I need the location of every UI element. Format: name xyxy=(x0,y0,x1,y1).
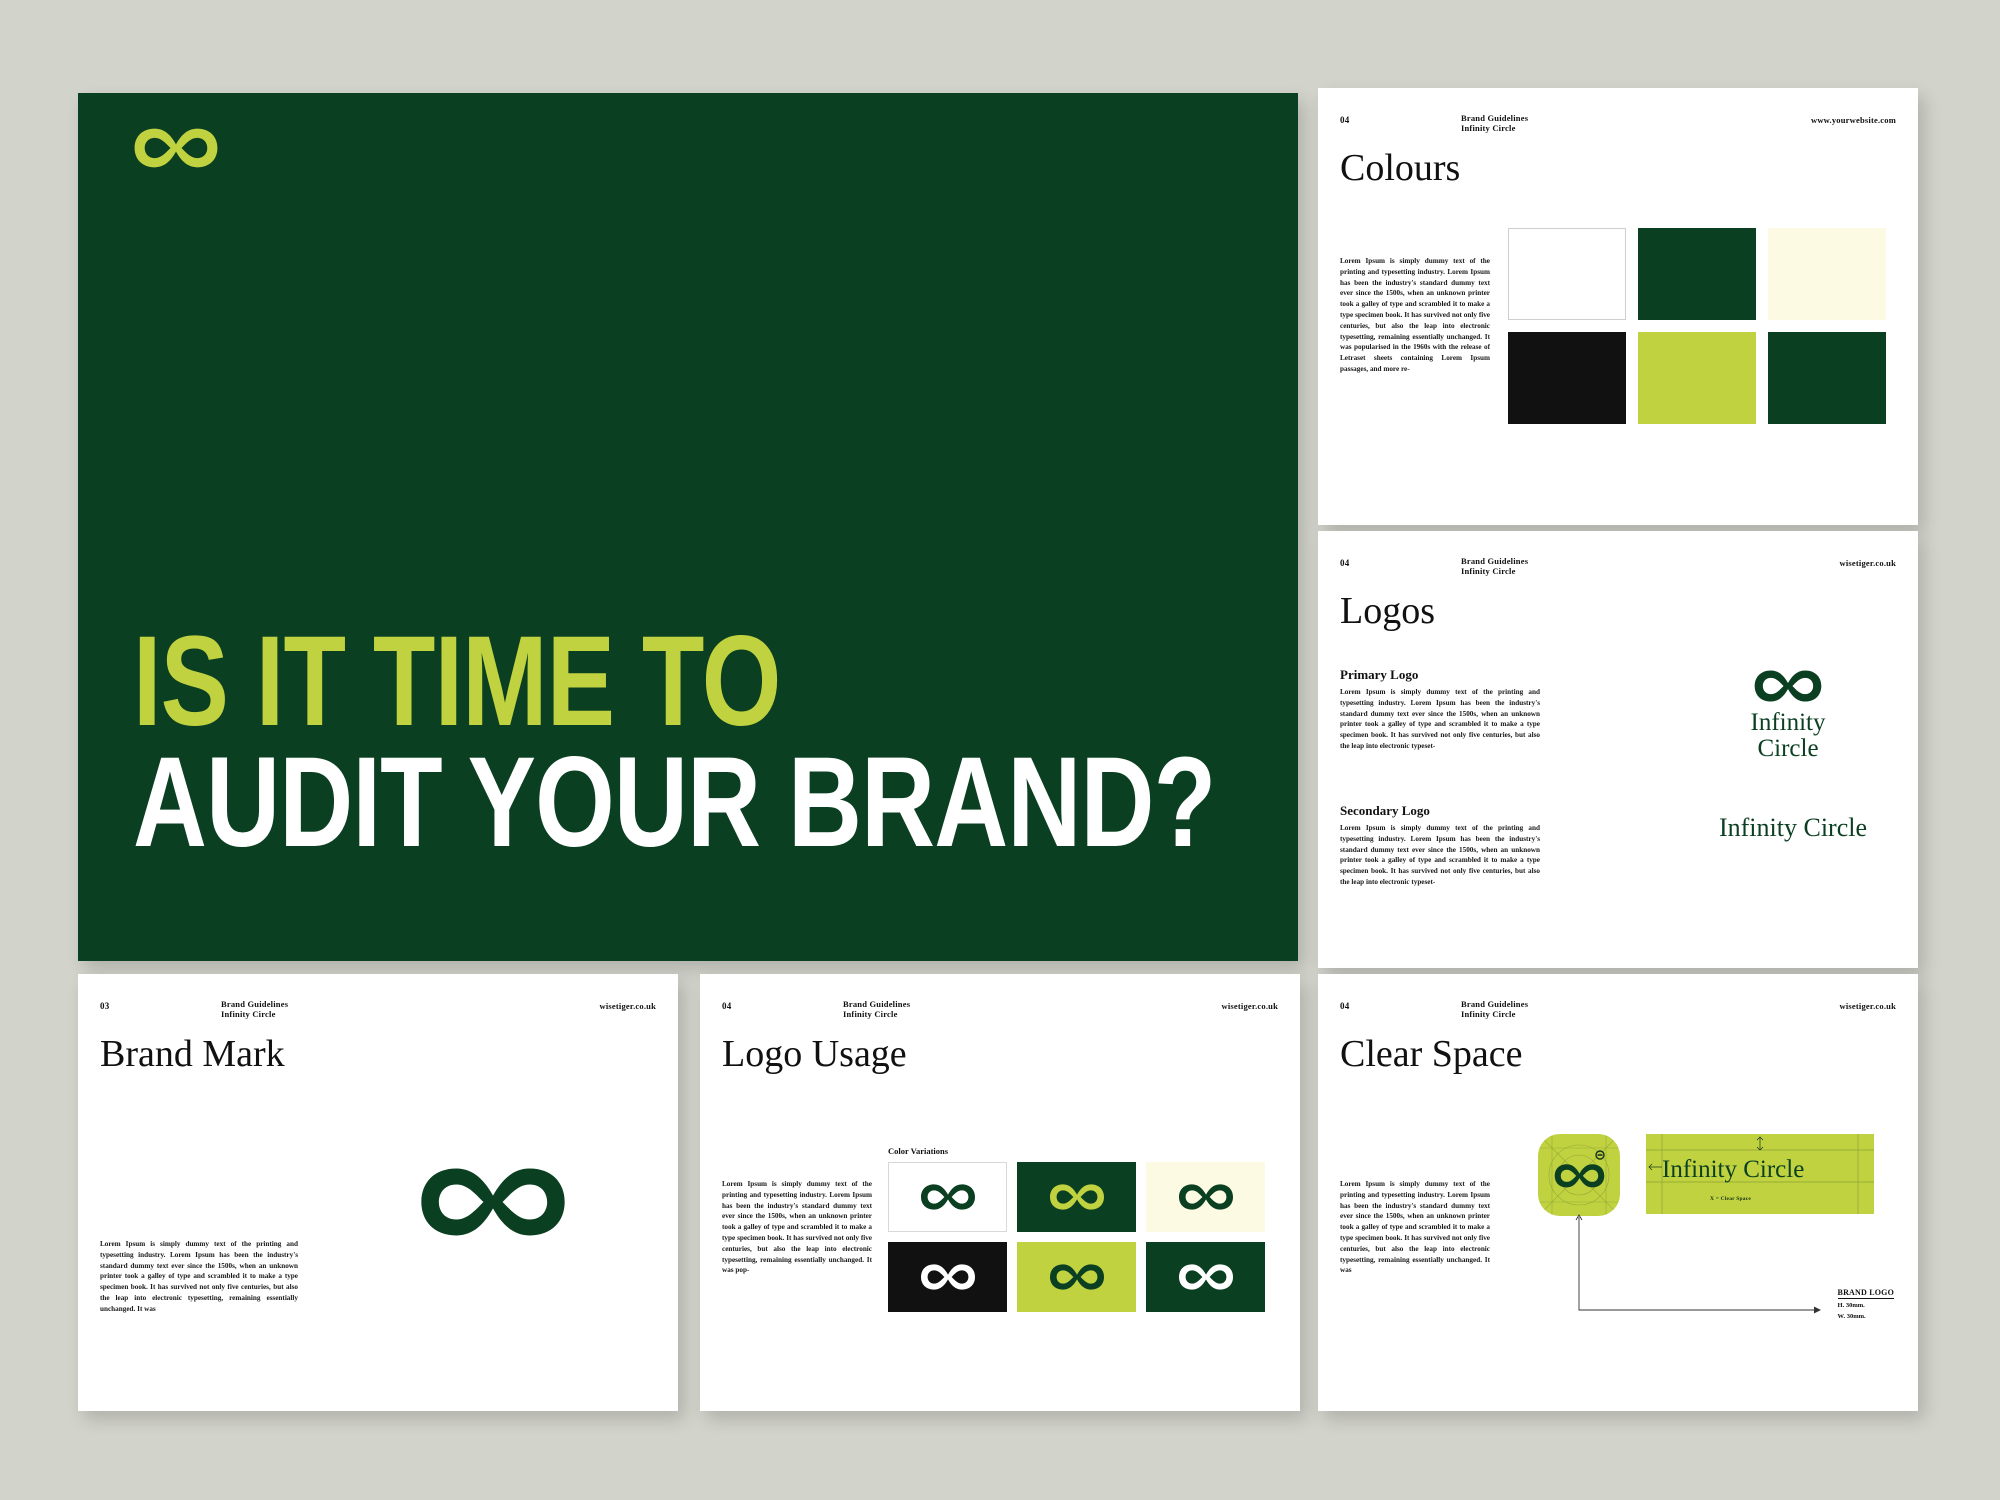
page-title: Clear Space xyxy=(1340,1032,1523,1076)
swatch-dark-green xyxy=(1638,228,1756,320)
page-number: 04 xyxy=(722,1001,731,1011)
infinity-icon xyxy=(1751,666,1825,708)
primary-logo-lockup: Infinity Circle xyxy=(1703,666,1873,761)
variation-green-on-white xyxy=(888,1162,1007,1232)
running-head-line-2: Infinity Circle xyxy=(1461,566,1528,576)
page-title: Brand Mark xyxy=(100,1032,285,1076)
primary-wordmark: Infinity Circle xyxy=(1703,710,1873,761)
callout-width: W. 30mm. xyxy=(1838,1313,1894,1322)
page-number: 03 xyxy=(100,1001,109,1011)
slide-logo-usage: 04 Brand Guidelines Infinity Circle wise… xyxy=(700,974,1300,1411)
variation-lime-on-green xyxy=(1017,1162,1136,1232)
logo-usage-copy: Lorem Ipsum is simply dummy text of the … xyxy=(722,1179,872,1276)
secondary-logo-heading: Secondary Logo xyxy=(1340,803,1430,819)
primary-logo-copy: Lorem Ipsum is simply dummy text of the … xyxy=(1340,687,1540,752)
infinity-icon xyxy=(408,1159,578,1245)
page-number: 04 xyxy=(1340,558,1349,568)
running-head-line-2: Infinity Circle xyxy=(1461,123,1528,133)
colours-body-copy: Lorem Ipsum is simply dummy text of the … xyxy=(1340,256,1490,375)
running-head: Brand Guidelines Infinity Circle xyxy=(1461,556,1528,576)
swatch-white xyxy=(1508,228,1626,320)
running-head-line-1: Brand Guidelines xyxy=(1461,999,1528,1009)
hero-headline-line-1: IS IT TIME TO xyxy=(133,622,1029,742)
infinity-icon xyxy=(1176,1180,1236,1214)
running-head: Brand Guidelines Infinity Circle xyxy=(1461,999,1528,1019)
running-head-line-1: Brand Guidelines xyxy=(1461,113,1528,123)
slide-brand-mark: 03 Brand Guidelines Infinity Circle wise… xyxy=(78,974,678,1411)
running-head: Brand Guidelines Infinity Circle xyxy=(843,999,910,1019)
running-head-line-1: Brand Guidelines xyxy=(1461,556,1528,566)
colour-swatch-grid xyxy=(1508,228,1888,424)
brand-logo-callout: BRAND LOGO H. 30mm. W. 30mm. xyxy=(1838,1282,1894,1322)
hero-headline-line-2: AUDIT YOUR BRAND? xyxy=(133,743,1029,863)
page-number: 04 xyxy=(1340,1001,1349,1011)
callout-title: BRAND LOGO xyxy=(1838,1288,1894,1299)
running-head-line-1: Brand Guidelines xyxy=(843,999,910,1009)
swatch-cream xyxy=(1768,228,1886,320)
color-variations-label: Color Variations xyxy=(888,1146,948,1156)
callout-leader-line xyxy=(1518,1114,1898,1374)
running-head-line-2: Infinity Circle xyxy=(843,1009,910,1019)
slide-logos: 04 Brand Guidelines Infinity Circle wise… xyxy=(1318,531,1918,968)
primary-wordmark-line-2: Circle xyxy=(1703,736,1873,762)
running-head: Brand Guidelines Infinity Circle xyxy=(1461,113,1528,133)
slide-clear-space: 04 Brand Guidelines Infinity Circle wise… xyxy=(1318,974,1918,1411)
swatch-dark-green-2 xyxy=(1768,332,1886,424)
clear-space-diagram: Infinity Circle X = Clear Space BRAND LO… xyxy=(1518,1114,1898,1374)
running-head-line-2: Infinity Circle xyxy=(1461,1009,1528,1019)
infinity-icon xyxy=(1047,1180,1107,1214)
secondary-wordmark: Infinity Circle xyxy=(1678,813,1908,843)
infinity-icon xyxy=(1047,1260,1107,1294)
variation-green-on-cream xyxy=(1146,1162,1265,1232)
page-url: www.yourwebsite.com xyxy=(1811,115,1896,125)
swatch-lime xyxy=(1638,332,1756,424)
infinity-icon xyxy=(918,1180,978,1214)
page-title: Logos xyxy=(1340,589,1435,633)
running-head-line-2: Infinity Circle xyxy=(221,1009,288,1019)
brand-mark-copy: Lorem Ipsum is simply dummy text of the … xyxy=(100,1239,298,1315)
primary-logo-heading: Primary Logo xyxy=(1340,667,1418,683)
infinity-icon xyxy=(130,123,222,215)
color-variations-grid xyxy=(888,1162,1265,1312)
page-title: Colours xyxy=(1340,146,1460,190)
clear-space-copy: Lorem Ipsum is simply dummy text of the … xyxy=(1340,1179,1490,1276)
page-url: wisetiger.co.uk xyxy=(599,1001,656,1011)
page-url: wisetiger.co.uk xyxy=(1839,1001,1896,1011)
slide-colours: 04 Brand Guidelines Infinity Circle www.… xyxy=(1318,88,1918,525)
running-head: Brand Guidelines Infinity Circle xyxy=(221,999,288,1019)
page-title: Logo Usage xyxy=(722,1032,907,1076)
infinity-icon xyxy=(1176,1260,1236,1294)
page-number: 04 xyxy=(1340,115,1349,125)
primary-wordmark-line-1: Infinity xyxy=(1703,710,1873,736)
infinity-icon xyxy=(918,1260,978,1294)
swatch-black xyxy=(1508,332,1626,424)
page-url: wisetiger.co.uk xyxy=(1221,1001,1278,1011)
variation-white-on-black xyxy=(888,1242,1007,1312)
running-head-line-1: Brand Guidelines xyxy=(221,999,288,1009)
secondary-logo-copy: Lorem Ipsum is simply dummy text of the … xyxy=(1340,823,1540,888)
callout-height: H. 30mm. xyxy=(1838,1302,1894,1311)
brand-guidelines-board: IS IT TIME TO AUDIT YOUR BRAND? 04 Brand… xyxy=(0,0,2000,1500)
variation-green-on-lime xyxy=(1017,1242,1136,1312)
slide-hero-cover: IS IT TIME TO AUDIT YOUR BRAND? xyxy=(78,93,1298,961)
variation-white-on-green xyxy=(1146,1242,1265,1312)
hero-headline: IS IT TIME TO AUDIT YOUR BRAND? xyxy=(133,622,1253,863)
page-url: wisetiger.co.uk xyxy=(1839,558,1896,568)
